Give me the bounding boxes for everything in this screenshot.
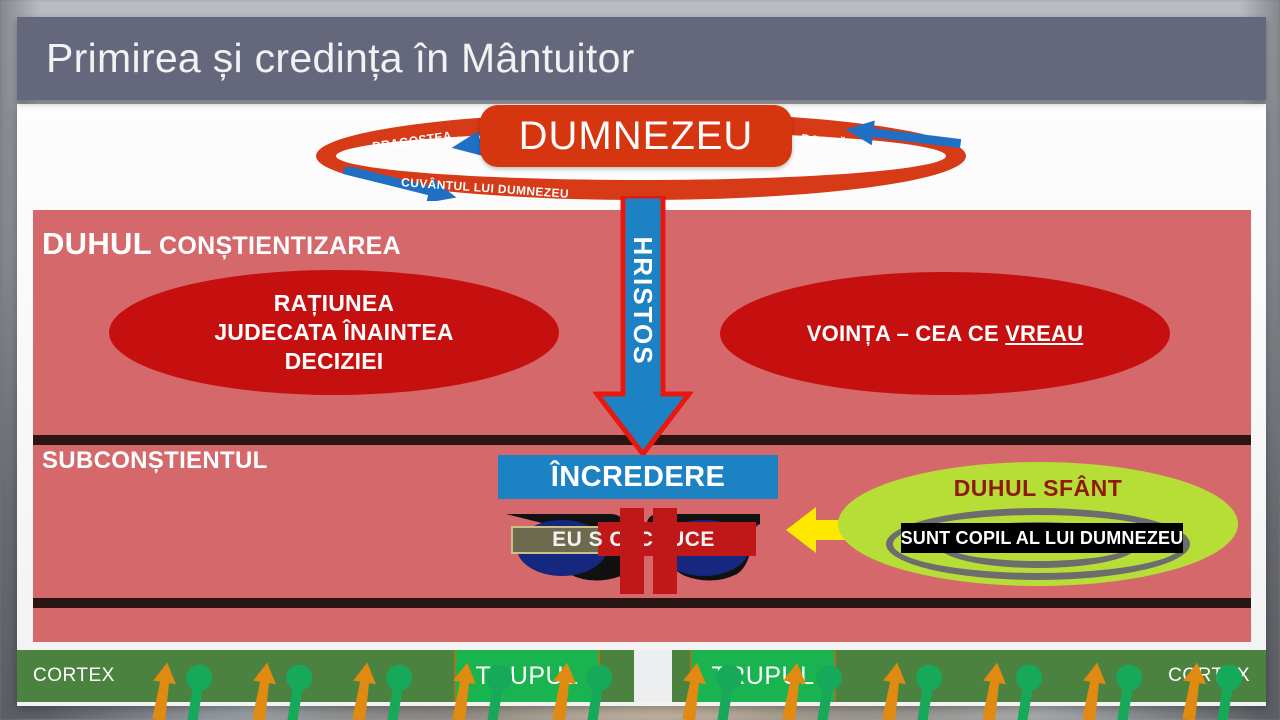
cross-bar-vertical-right (653, 508, 677, 594)
nerve-arrows-graphic (0, 648, 1280, 720)
identity-statement-box: SUNT COPIL AL LUI DUMNEZEU (901, 523, 1183, 553)
roada-arrow-icon (843, 120, 963, 154)
dumnezeu-box: DUMNEZEU (480, 105, 792, 167)
spirit-heading-bold: DUHUL (42, 226, 152, 261)
dumnezeu-label: DUMNEZEU (519, 114, 754, 159)
will-underlined: VREAU (1005, 321, 1083, 346)
cross-bar-vertical-left (620, 508, 644, 594)
page-title: Primirea și credința în Mântuitor (17, 35, 635, 82)
reason-line-1: RAȚIUNEA (214, 289, 453, 318)
identity-statement: SUNT COPIL AL LUI DUMNEZEU (901, 528, 1184, 549)
reason-ellipse: RAȚIUNEA JUDECATA ÎNAINTEA DECIZIEI (109, 270, 559, 395)
hristos-arrow: HRISTOS (593, 196, 693, 458)
will-text: VOINȚA – CEA CE (807, 321, 1005, 346)
subconscious-heading: SUBCONȘTIENTUL (42, 447, 268, 475)
duhul-sfant-ellipse: DUHUL SFÂNT SUNT COPIL AL LUI DUMNEZEU (838, 462, 1238, 586)
spirit-heading-rest: CONȘTIENTIZAREA (159, 232, 401, 260)
will-ellipse: VOINȚA – CEA CE VREAU (720, 272, 1170, 395)
hristos-arrow-icon (593, 196, 693, 458)
glasses-graphic: EU S CI CRUCE (498, 500, 768, 590)
reason-line-2: JUDECATA ÎNAINTEA (214, 318, 453, 347)
duhul-sfant-title: DUHUL SFÂNT (838, 475, 1238, 502)
incredere-label: ÎNCREDERE (551, 461, 725, 494)
reason-line-3: DECIZIEI (214, 347, 453, 376)
spirit-heading: DUHULCONȘTIENTIZAREA (42, 226, 401, 262)
divider-subconscious (33, 598, 1251, 608)
incredere-box: ÎNCREDERE (498, 455, 778, 499)
slide-root: Primirea și credința în Mântuitor DRAGOS… (0, 0, 1280, 720)
title-banner: Primirea și credința în Mântuitor (17, 17, 1266, 100)
